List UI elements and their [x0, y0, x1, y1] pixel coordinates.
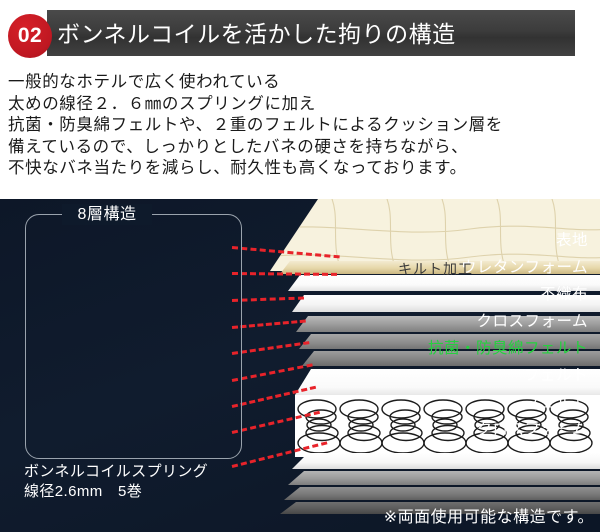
layer-label-7: クロスフォーム	[476, 420, 588, 440]
connector-line-4	[232, 320, 306, 329]
layer-label-4: 抗菌・防臭綿フェルト	[428, 339, 588, 359]
lead-paragraph: 一般的なホテルで広く使われている 太めの線径２．６㎜のスプリングに加え 抗菌・防…	[8, 72, 592, 180]
lead-line-1: 一般的なホテルで広く使われている	[8, 72, 592, 94]
layer-label-2: 不織布	[540, 285, 588, 305]
layer-sheet-bottom-white	[292, 453, 600, 469]
layer-label-6: フェルト	[524, 393, 588, 413]
spring-specification-note: ボンネルコイルスプリング 線径2.6mm 5巻	[24, 462, 254, 502]
section-number-badge: 02	[8, 14, 52, 58]
product-infographic: ボンネルコイルを活かした拘りの構造 02 一般的なホテルで広く使われている 太め…	[0, 0, 600, 532]
layer-sheet-bottom-gray-2	[284, 487, 600, 500]
page-title: ボンネルコイルを活かした拘りの構造	[57, 18, 567, 52]
layer-count-title: 8層構造	[62, 204, 152, 225]
lead-line-4: 備えているので、しっかりとしたバネの硬さを持ちながら、	[8, 137, 592, 159]
connector-line-2	[232, 272, 337, 276]
spring-note-line-1: ボンネルコイルスプリング	[24, 462, 254, 482]
layer-label-box	[25, 214, 242, 459]
spring-note-line-2: 線径2.6mm 5巻	[24, 482, 254, 502]
lead-line-5: 不快なバネ当たりを減らし、耐久性も高くなっております。	[8, 158, 592, 180]
connector-line-6	[232, 363, 313, 382]
layer-label-0: 表地	[556, 231, 588, 251]
lead-line-2: 太めの線径２．６㎜のスプリングに加え	[8, 94, 592, 116]
connector-line-3	[232, 296, 304, 302]
construction-diagram: キルト加工	[0, 199, 600, 532]
layer-label-3: クロスフォーム	[476, 312, 588, 332]
lead-line-3: 抗菌・防臭綿フェルトや、２重のフェルトによるクッション層を	[8, 115, 592, 137]
layer-label-1: ウレタンフォーム	[461, 258, 588, 278]
section-header: ボンネルコイルを活かした拘りの構造 02	[0, 10, 600, 58]
layer-label-5: フェルト	[524, 366, 588, 386]
connector-line-5	[232, 341, 310, 355]
reversible-footnote: ※両面使用可能な構造です。	[384, 508, 594, 528]
layer-sheet-bottom-gray-1	[288, 471, 600, 485]
